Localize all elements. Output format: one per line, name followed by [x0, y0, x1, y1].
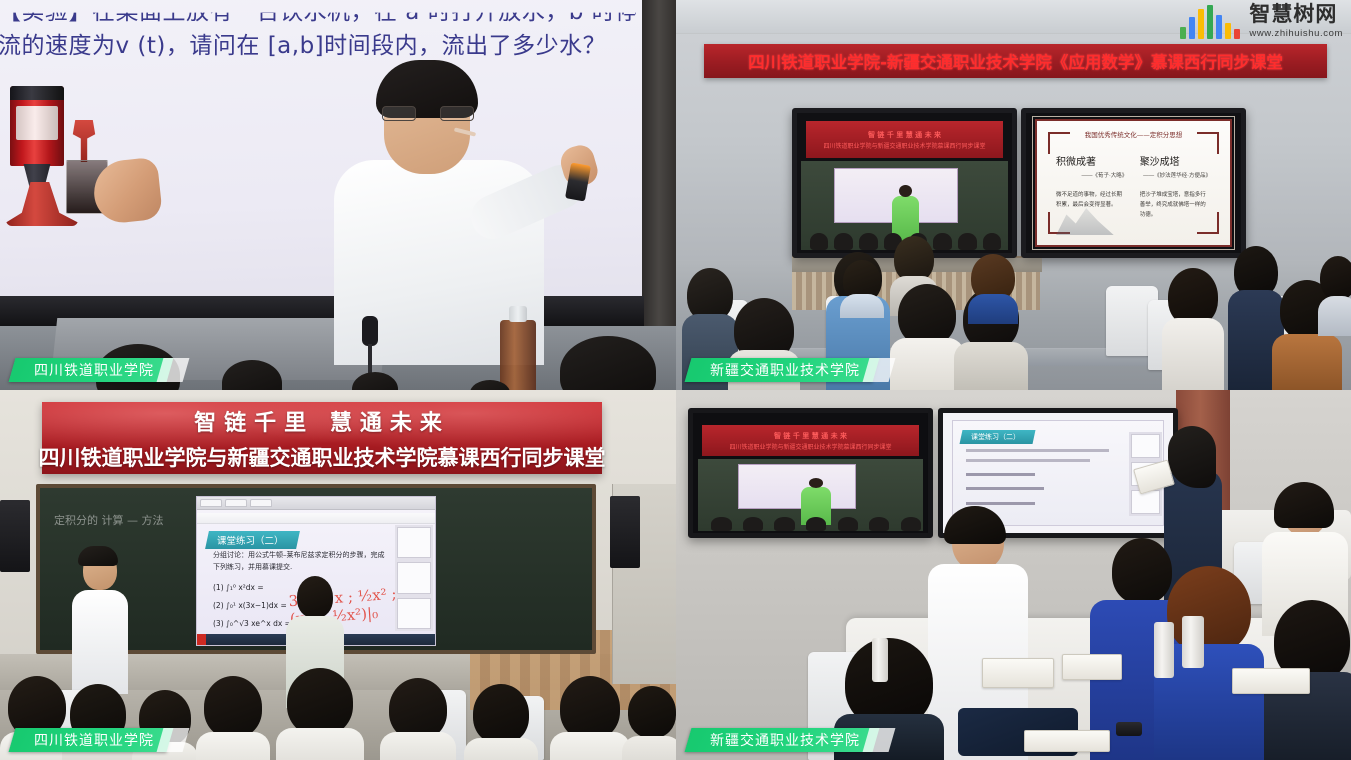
panel-top-left-lecturer-closeup[interactable]: 【实验】在桌面上放有一台饮水机，在 a 时打开放水，b 时停止放水. 流的速度为…	[0, 0, 676, 390]
slide-line-1: 【实验】在桌面上放有一台饮水机，在 a 时打开放水，b 时停止放水.	[0, 0, 636, 30]
label-sichuan-railway-college-bl: 四川铁道职业学院	[9, 728, 174, 752]
notebook-foreground	[1024, 730, 1110, 752]
label-xinjiang-transport-college-br: 新疆交通职业技术学院	[685, 728, 880, 752]
thermos-cup-1	[1154, 622, 1174, 678]
label-xinjiang-transport-college-tr: 新疆交通职业技术学院	[685, 358, 880, 382]
slide-line-2: 流的速度为v (t)，请问在 [a,b]时间段内，流出了多少水？	[0, 32, 636, 62]
cola-dispenser-photo	[8, 86, 173, 221]
bottle-on-table	[872, 638, 888, 682]
panel-bottom-right-discussion-group[interactable]: 智 链 千 里 慧 通 未 来 四川铁道职业学院与新疆交通职业技术学院慕课西行同…	[676, 390, 1351, 760]
seated-students	[676, 0, 1351, 390]
panel-top-right-remote-classroom[interactable]: 四川铁道职业学院-新疆交通职业技术学院《应用数学》慕课西行同步课堂 智 链 千 …	[676, 0, 1351, 390]
panel-bottom-left-home-classroom[interactable]: 智链千里 慧通未来 四川铁道职业学院与新疆交通职业技术学院慕课西行同步课堂 定积…	[0, 390, 676, 760]
discussion-participants	[676, 390, 1351, 760]
open-book-2	[1062, 654, 1122, 680]
smartphone	[1116, 722, 1142, 736]
video-grid: 【实验】在桌面上放有一台饮水机，在 a 时打开放水，b 时停止放水. 流的速度为…	[0, 0, 1351, 760]
open-book-1	[982, 658, 1054, 688]
room-wall-right	[642, 0, 676, 330]
label-sichuan-railway-college-tl: 四川铁道职业学院	[9, 358, 174, 382]
classroom-people	[0, 390, 676, 760]
thermos-cup-2	[1182, 616, 1204, 668]
open-book-3	[1232, 668, 1310, 694]
slide-text-block: 【实验】在桌面上放有一台饮水机，在 a 时打开放水，b 时停止放水. 流的速度为…	[0, 0, 644, 62]
lecturer-figure	[318, 60, 588, 360]
